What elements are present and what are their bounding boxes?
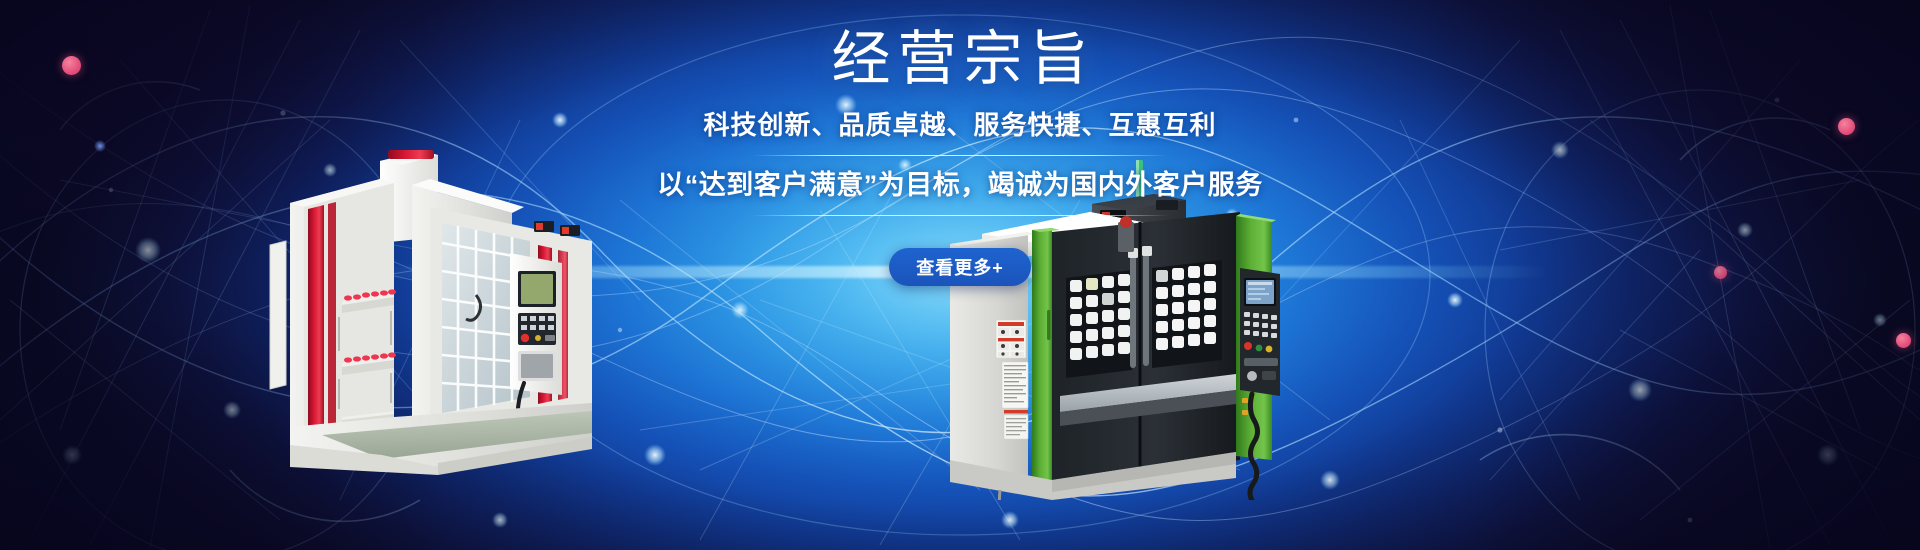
company-purpose-banner: 经营宗旨 科技创新、品质卓越、服务快捷、互惠互利 以“达到客户满意”为目标，竭诚… <box>0 0 1920 550</box>
page-title: 经营宗旨 <box>831 30 1095 89</box>
banner-subtitle: 科技创新、品质卓越、服务快捷、互惠互利 <box>703 109 1216 142</box>
divider-top <box>752 155 1168 156</box>
banner-tagline: 以“达到客户满意”为目标，竭诚为国内外客户服务 <box>657 169 1263 203</box>
view-more-button[interactable]: 查看更多+ <box>889 248 1031 286</box>
divider-bottom <box>752 215 1168 216</box>
